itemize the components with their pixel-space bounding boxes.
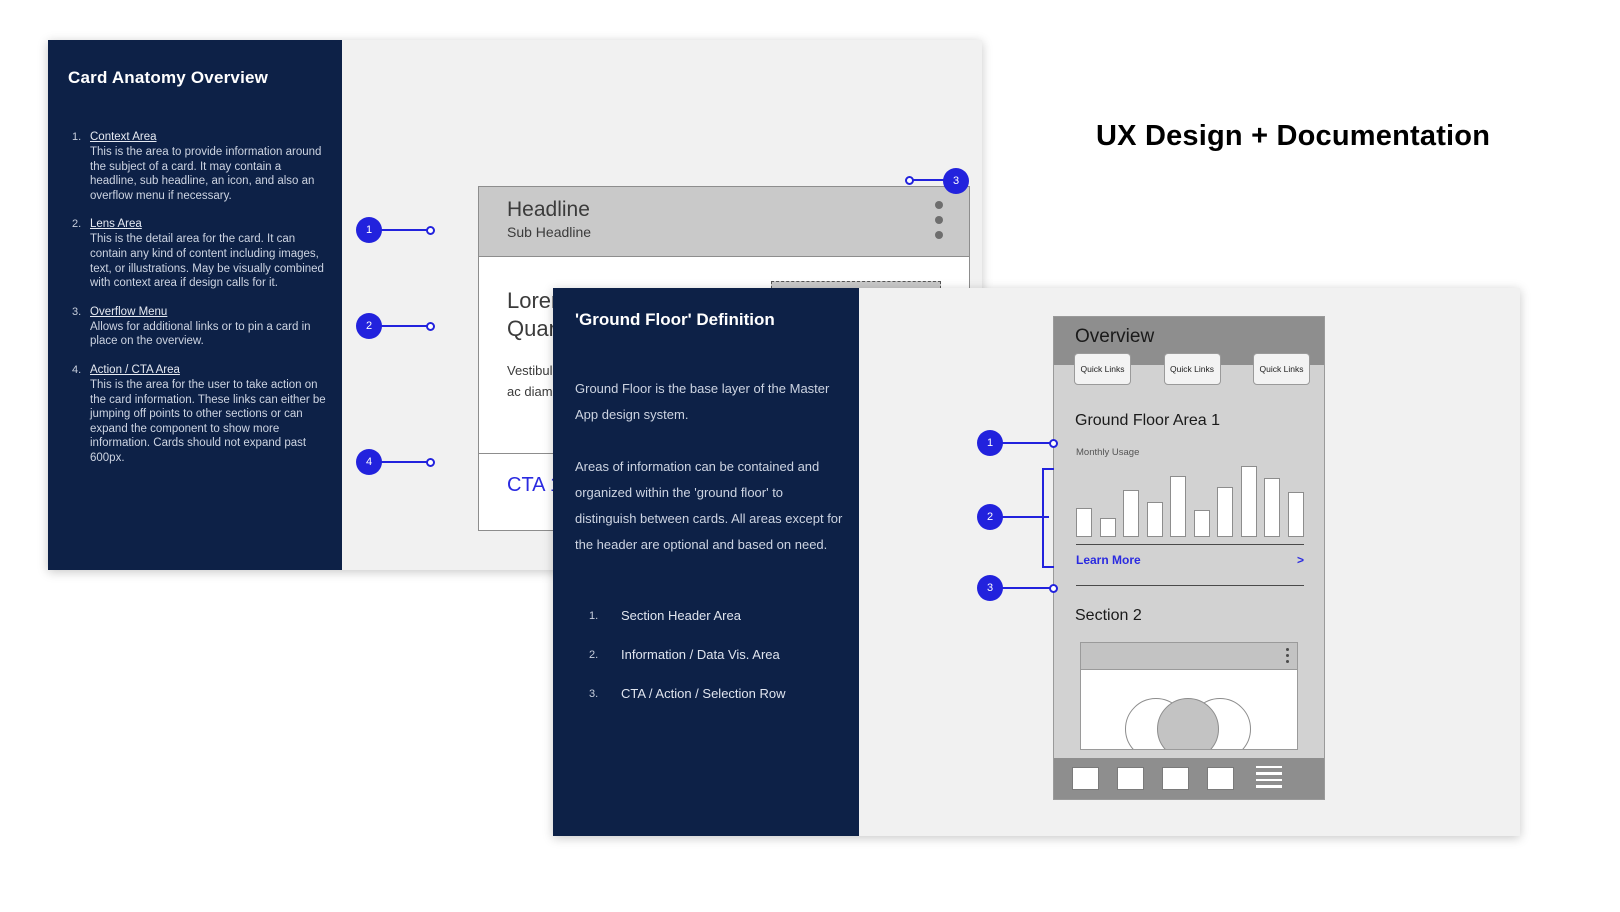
callout-2-badge[interactable]: 2: [977, 504, 1003, 530]
callout-2-anchor-dot: [426, 322, 435, 331]
list-item-number: 1.: [66, 130, 90, 203]
chart-bar: [1241, 466, 1257, 537]
list-item-term: Overflow Menu: [90, 305, 328, 320]
list-item: 3. CTA / Action / Selection Row: [589, 686, 859, 702]
chart-title: Monthly Usage: [1076, 447, 1139, 458]
list-item-label: CTA / Action / Selection Row: [621, 686, 786, 702]
list-item-number: 1.: [589, 608, 621, 624]
list-item: 2. Information / Data Vis. Area: [589, 647, 859, 663]
callout-4-badge[interactable]: 4: [356, 449, 382, 475]
list-item-number: 2.: [66, 217, 90, 290]
callout-3-anchor-dot: [1049, 584, 1058, 593]
learn-more-divider: [1076, 585, 1304, 586]
chart-bar: [1264, 478, 1280, 537]
list-item: 1. Context Area This is the area to prov…: [66, 130, 328, 203]
presentation-canvas: Card Anatomy Overview 1. Context Area Th…: [0, 0, 1620, 912]
callout-3-badge[interactable]: 3: [943, 168, 969, 194]
phone-mockup: Overview Quick Links Quick Links Quick L…: [1053, 316, 1325, 800]
slide1-title: Card Anatomy Overview: [68, 68, 328, 88]
nav-item-1[interactable]: [1072, 767, 1099, 790]
slide2-navy-panel: [553, 288, 859, 836]
phone-screen-title: Overview: [1054, 317, 1324, 348]
list-item-number: 4.: [66, 363, 90, 466]
chart-bar: [1100, 518, 1116, 537]
venn-diagram-illustration: [1081, 670, 1297, 750]
list-item-label: Section Header Area: [621, 608, 741, 624]
list-item-description: This is the detail area for the card. It…: [90, 232, 328, 290]
list-item-number: 3.: [66, 305, 90, 349]
list-item-description: Allows for additional links or to pin a …: [90, 320, 328, 349]
callout-1-anchor-dot: [426, 226, 435, 235]
quick-link-button[interactable]: Quick Links: [1074, 353, 1131, 385]
list-item-number: 2.: [589, 647, 621, 663]
learn-more-row[interactable]: Learn More >: [1076, 553, 1304, 567]
list-item-description: This is the area to provide information …: [90, 145, 328, 203]
callout-1-badge[interactable]: 1: [356, 217, 382, 243]
chart-bar: [1194, 510, 1210, 537]
slide2-paragraph-2: Areas of information can be contained an…: [575, 454, 843, 558]
chevron-right-icon[interactable]: >: [1297, 553, 1304, 567]
quick-link-button[interactable]: Quick Links: [1164, 353, 1221, 385]
slide2-paragraph-1: Ground Floor is the base layer of the Ma…: [575, 376, 843, 428]
card-sub-headline: Sub Headline: [507, 223, 969, 242]
monthly-usage-bar-chart: [1076, 460, 1304, 537]
card-headline: Headline: [507, 197, 969, 223]
list-item-term: Lens Area: [90, 217, 328, 232]
list-item: 3. Overflow Menu Allows for additional l…: [66, 305, 328, 349]
chart-baseline-divider: [1076, 544, 1304, 545]
quick-links-row: Quick Links Quick Links Quick Links: [1074, 353, 1310, 385]
chart-bar: [1288, 492, 1304, 537]
list-item-number: 3.: [589, 686, 621, 702]
nav-item-4[interactable]: [1207, 767, 1234, 790]
chart-bar: [1170, 476, 1186, 537]
chart-bar: [1076, 508, 1092, 537]
overflow-menu-icon[interactable]: [935, 201, 943, 246]
list-item-description: This is the area for the user to take ac…: [90, 378, 328, 466]
chart-bar: [1147, 502, 1163, 537]
nav-item-3[interactable]: [1162, 767, 1189, 790]
list-item: 4. Action / CTA Area This is the area fo…: [66, 363, 328, 466]
callout-3-badge[interactable]: 3: [977, 575, 1003, 601]
callout-4-anchor-dot: [426, 458, 435, 467]
callout-1-leader-line: [1001, 442, 1053, 444]
list-item: 2. Lens Area This is the detail area for…: [66, 217, 328, 290]
section-2-card: [1080, 642, 1298, 750]
slide2-numbered-list: 1. Section Header Area 2. Information / …: [589, 608, 859, 725]
callout-1-badge[interactable]: 1: [977, 430, 1003, 456]
slide1-numbered-list: 1. Context Area This is the area to prov…: [66, 130, 328, 480]
slide-ground-floor-definition: 'Ground Floor' Definition Ground Floor i…: [553, 288, 1520, 836]
list-item-label: Information / Data Vis. Area: [621, 647, 780, 663]
callout-3-leader-line: [1001, 587, 1053, 589]
callout-2-range-bracket: [1042, 468, 1054, 568]
chart-bar: [1123, 490, 1139, 537]
callout-1-anchor-dot: [1049, 439, 1058, 448]
mini-card-header: [1081, 643, 1297, 670]
list-item-term: Context Area: [90, 130, 328, 145]
slide2-title: 'Ground Floor' Definition: [575, 310, 845, 330]
hamburger-menu-icon[interactable]: [1256, 766, 1282, 792]
quick-link-button[interactable]: Quick Links: [1253, 353, 1310, 385]
deck-title: UX Design + Documentation: [1096, 120, 1490, 153]
nav-item-2[interactable]: [1117, 767, 1144, 790]
ground-floor-area-title: Ground Floor Area 1: [1075, 412, 1220, 430]
chart-bar: [1217, 487, 1233, 537]
list-item: 1. Section Header Area: [589, 608, 859, 624]
learn-more-link[interactable]: Learn More: [1076, 553, 1141, 567]
list-item-term: Action / CTA Area: [90, 363, 328, 378]
card-context-area: Headline Sub Headline: [479, 187, 969, 257]
overflow-menu-icon[interactable]: [1286, 648, 1289, 666]
section-2-title: Section 2: [1075, 607, 1142, 625]
phone-bottom-nav: [1054, 758, 1324, 799]
callout-2-badge[interactable]: 2: [356, 313, 382, 339]
